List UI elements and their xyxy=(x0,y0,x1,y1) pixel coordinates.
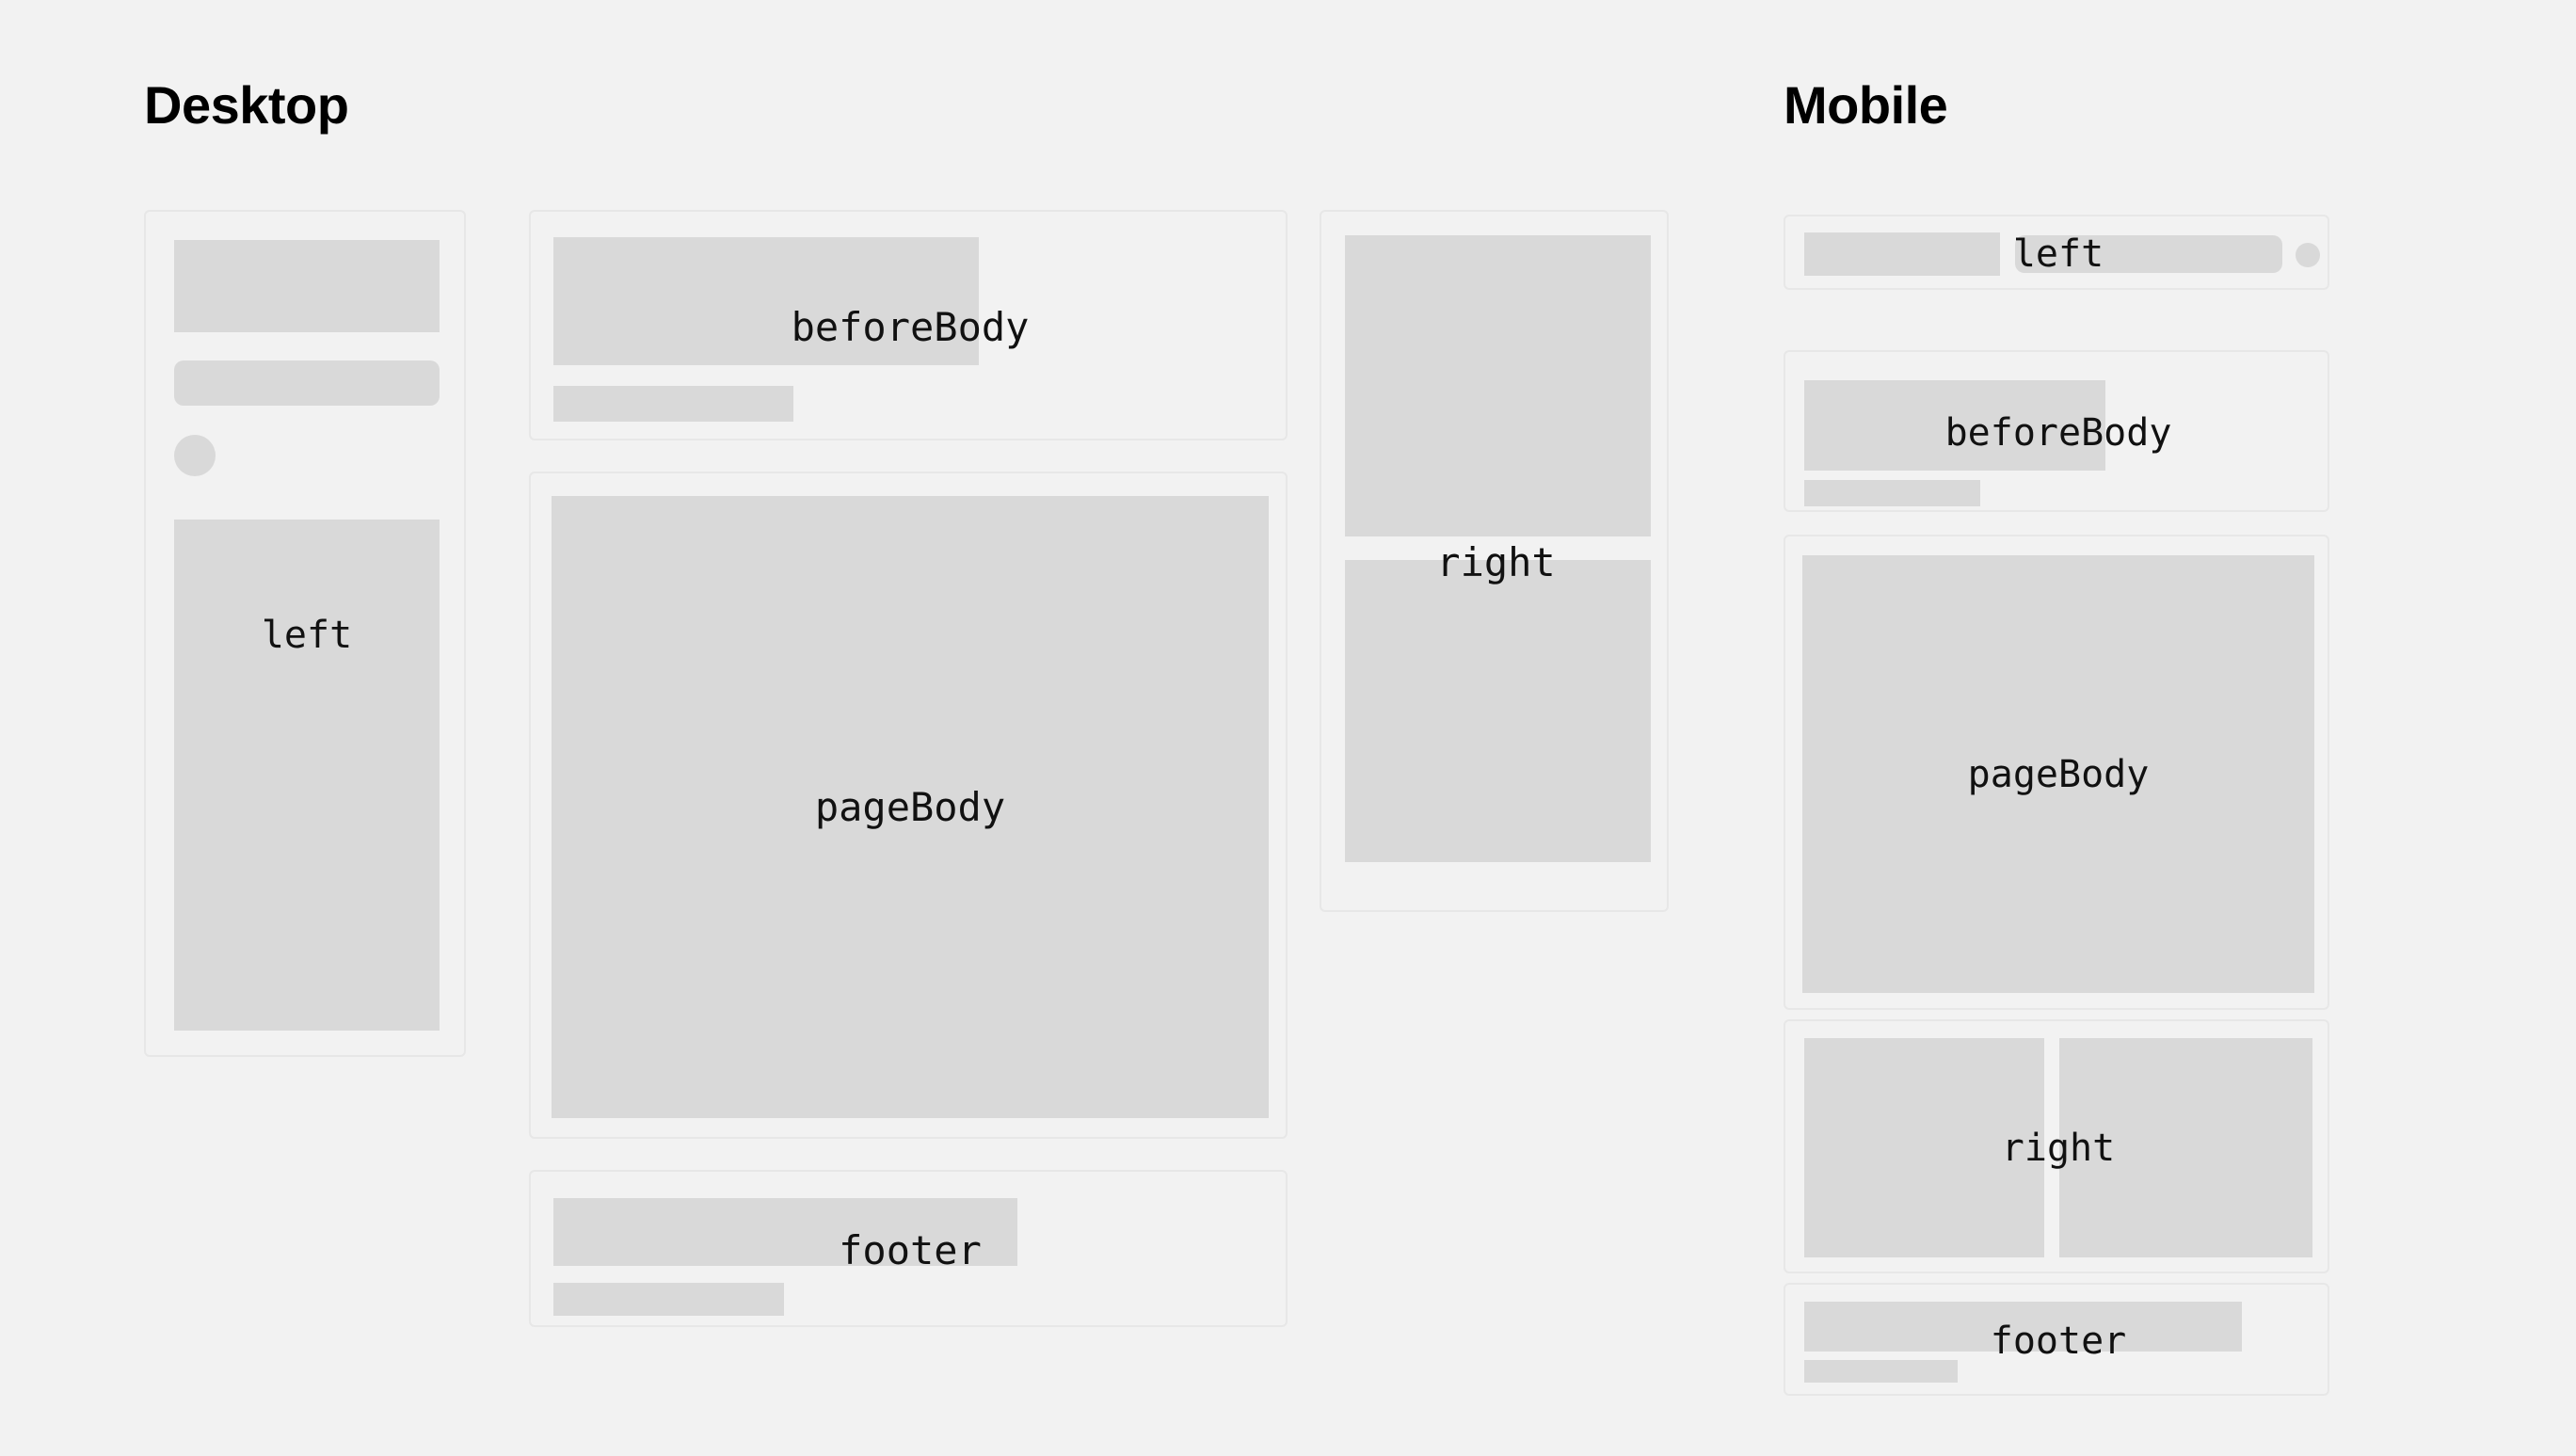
placeholder-bar xyxy=(1804,480,1980,506)
placeholder-block xyxy=(1804,380,2105,471)
placeholder-block xyxy=(2059,1038,2312,1257)
placeholder-block xyxy=(1802,555,2314,993)
placeholder-circle xyxy=(2296,243,2320,267)
placeholder-block xyxy=(553,237,979,365)
placeholder-block xyxy=(1804,1038,2044,1257)
mobile-pagebody-region-card[interactable]: pageBody xyxy=(1784,535,2329,1010)
desktop-right-region-card[interactable]: right xyxy=(1320,210,1669,912)
desktop-footer-region-card[interactable]: footer xyxy=(529,1170,1288,1327)
desktop-beforebody-region-card[interactable]: beforeBody xyxy=(529,210,1288,440)
placeholder-bar xyxy=(174,360,440,406)
placeholder-block xyxy=(174,520,440,1031)
mobile-left-region-card[interactable]: left xyxy=(1784,215,2329,290)
mobile-beforebody-region-card[interactable]: beforeBody xyxy=(1784,350,2329,512)
placeholder-block xyxy=(174,240,440,332)
placeholder-bar xyxy=(553,1283,784,1316)
placeholder-block xyxy=(552,496,1269,1118)
desktop-section-title: Desktop xyxy=(144,79,348,132)
placeholder-bar xyxy=(1804,1360,1958,1383)
placeholder-bar xyxy=(2015,235,2282,273)
mobile-right-region-card[interactable]: right xyxy=(1784,1019,2329,1273)
placeholder-block xyxy=(1345,235,1651,536)
mobile-footer-region-card[interactable]: footer xyxy=(1784,1283,2329,1396)
placeholder-block xyxy=(1804,232,2000,276)
placeholder-bar xyxy=(553,386,793,422)
placeholder-block xyxy=(1804,1302,2242,1352)
placeholder-circle xyxy=(174,435,216,476)
desktop-left-region-card[interactable]: left xyxy=(144,210,466,1057)
mobile-section-title: Mobile xyxy=(1784,79,1947,132)
desktop-pagebody-region-card[interactable]: pageBody xyxy=(529,472,1288,1139)
placeholder-block xyxy=(553,1198,1017,1266)
placeholder-block xyxy=(1345,560,1651,862)
